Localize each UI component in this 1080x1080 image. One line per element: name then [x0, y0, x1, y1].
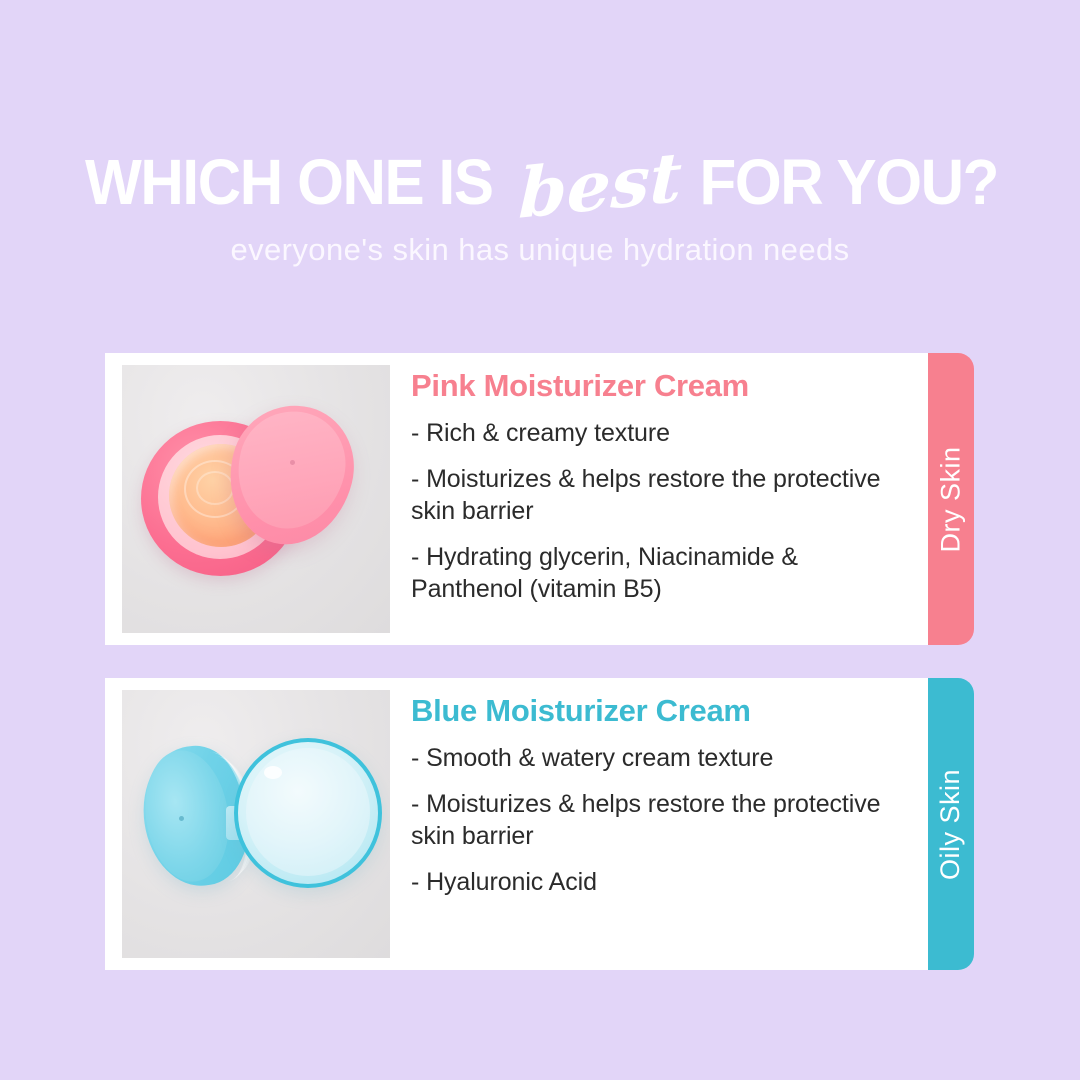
product-feature-item: - Smooth & watery cream texture [411, 742, 916, 774]
page-title-before: WHICH ONE IS [85, 150, 493, 214]
product-feature-item: - Moisturizes & helps restore the protec… [411, 788, 916, 852]
page-subtitle: everyone's skin has unique hydration nee… [0, 232, 1080, 268]
blue-jar-highlight [264, 766, 282, 779]
product-feature-item: - Moisturizes & helps restore the protec… [411, 463, 916, 527]
skin-type-tab-oily[interactable]: Oily Skin [928, 678, 974, 970]
pink-cream-swirl-inner [196, 471, 234, 505]
product-info-blue: Blue Moisturizer Cream - Smooth & watery… [390, 678, 928, 912]
skin-type-tab-label: Dry Skin [936, 446, 967, 552]
pink-jar-lid-center-dot [290, 460, 295, 465]
product-feature-item: - Hyaluronic Acid [411, 866, 916, 898]
page-title-after: FOR YOU? [700, 150, 998, 214]
page-title: WHICH ONE IS best FOR YOU? [0, 139, 1080, 225]
product-photo-blue [122, 690, 390, 958]
skin-type-tab-label: Oily Skin [936, 768, 967, 879]
header: WHICH ONE IS best FOR YOU? everyone's sk… [0, 0, 1080, 300]
skin-type-tab-dry[interactable]: Dry Skin [928, 353, 974, 645]
product-card-blue[interactable]: Blue Moisturizer Cream - Smooth & watery… [105, 678, 928, 970]
product-feature-item: - Hydrating glycerin, Niacinamide & Pant… [411, 541, 916, 605]
product-feature-item: - Rich & creamy texture [411, 417, 916, 449]
page-title-script-word: best [517, 143, 682, 229]
product-title-pink: Pink Moisturizer Cream [411, 369, 916, 403]
blue-jar-lid-center-dot [179, 816, 184, 821]
product-photo-pink [122, 365, 390, 633]
product-card-pink[interactable]: Pink Moisturizer Cream - Rich & creamy t… [105, 353, 928, 645]
blue-jar-gel-surface [246, 748, 370, 876]
product-title-blue: Blue Moisturizer Cream [411, 694, 916, 728]
product-info-pink: Pink Moisturizer Cream - Rich & creamy t… [390, 353, 928, 619]
